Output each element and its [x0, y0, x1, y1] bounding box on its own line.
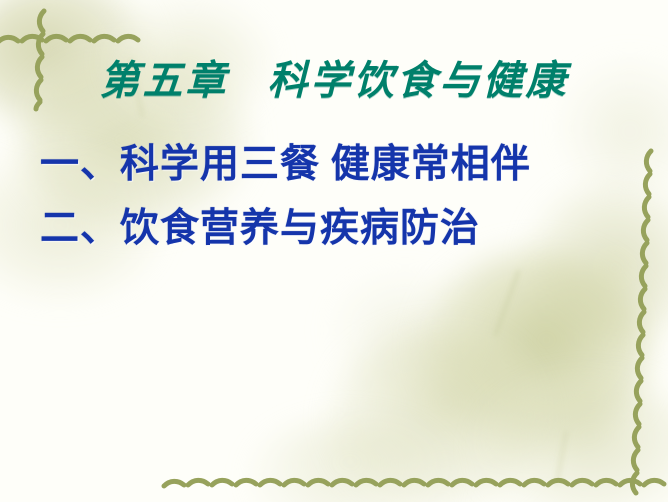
leaf-watermark-icon	[330, 270, 480, 390]
leaf-watermark-icon	[250, 420, 450, 502]
presentation-slide: 第五章 科学饮食与健康 一、科学用三餐 健康常相伴 二、饮食营养与疾病防治	[0, 0, 668, 502]
top-left-horizontal-wavy-line-icon	[0, 28, 146, 54]
leaf-watermark-icon	[530, 180, 668, 340]
bottom-horizontal-wavy-line-icon	[162, 472, 668, 496]
stalk-watermark-icon	[493, 269, 521, 336]
leaf-watermark-icon	[330, 330, 540, 502]
right-vertical-wavy-line-icon	[638, 148, 664, 502]
bullet-item-2: 二、饮食营养与疾病防治	[40, 207, 480, 252]
page-title: 第五章 科学饮食与健康	[0, 56, 668, 106]
bullet-item-1: 一、科学用三餐 健康常相伴	[40, 143, 531, 188]
leaf-watermark-icon	[480, 380, 668, 502]
leaf-watermark-icon	[420, 250, 650, 450]
stalk-watermark-icon	[555, 430, 568, 485]
